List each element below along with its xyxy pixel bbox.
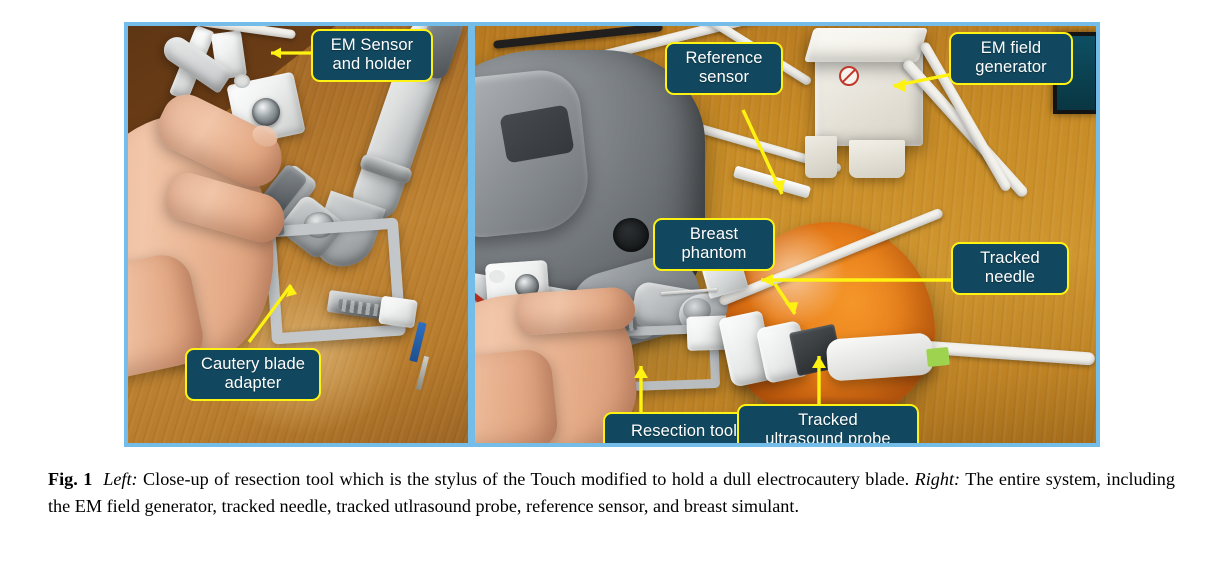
callout-em-sensor-and-holder: EM Sensor and holder [311,29,433,82]
figure-caption: Fig. 1 Left: Close-up of resection tool … [48,466,1175,519]
figure-number: Fig. 1 [48,469,92,489]
no-magnet-icon [839,66,859,86]
caption-space-1 [92,469,103,489]
probe-connector-tape [926,347,950,367]
caption-left-italic: Left: [103,469,137,489]
sensor-screw-hole [234,74,250,88]
ultrasound-probe-body [826,332,935,381]
right-photo-panel: Reference sensor EM field generator Brea… [475,26,1096,443]
left-photo-panel: EM Sensor and holder Cautery blade adapt… [128,26,468,443]
callout-breast-phantom: Breast phantom [653,218,775,271]
caption-text-1: Close-up of resection tool which is the … [138,469,915,489]
callout-cautery-blade-adapter: Cautery blade adapter [185,348,321,401]
em-field-generator-top-face [804,28,928,62]
caption-right-italic: Right: [915,469,960,489]
callout-em-field-generator: EM field generator [949,32,1073,85]
haptic-device-port [613,218,649,252]
callout-reference-sensor: Reference sensor [665,42,783,95]
em-field-generator-stand-right [849,140,905,178]
cautery-blade-adapter-frame [264,217,406,344]
right-sensor-screw [489,270,505,283]
em-sensor-coil [252,98,280,126]
forearm-right [475,347,560,443]
index-finger-right [516,286,637,336]
figure-image-frame: EM Sensor and holder Cautery blade adapt… [124,22,1100,447]
em-field-generator-stand-left [805,136,837,178]
callout-tracked-needle: Tracked needle [951,242,1069,295]
figure-page: EM Sensor and holder Cautery blade adapt… [0,0,1222,582]
adapter-blade-clamp [378,296,418,329]
callout-tracked-ultrasound-probe: Tracked ultrasound probe [737,404,919,443]
